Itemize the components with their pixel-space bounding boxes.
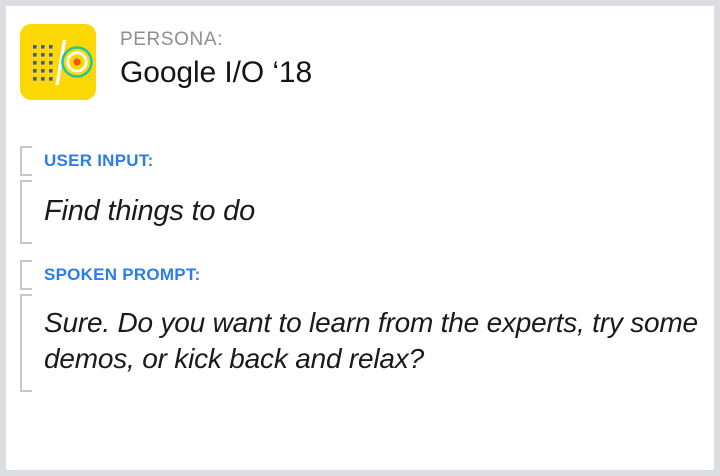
spoken-prompt-label-body: SPOKEN PROMPT: [20, 260, 201, 285]
user-input-value-block: Find things to do [20, 180, 255, 231]
spoken-prompt-value-body: Sure. Do you want to learn from the expe… [20, 294, 704, 378]
spoken-prompt-value: Sure. Do you want to learn from the expe… [44, 305, 704, 378]
user-input-label-body: USER INPUT: [20, 146, 153, 171]
google-io-logo [20, 24, 96, 100]
bracket-decoration [20, 146, 32, 176]
bracket-decoration [20, 180, 32, 244]
user-input-label-block: USER INPUT: [20, 146, 153, 171]
persona-value: Google I/O ‘18 [120, 54, 312, 92]
persona-card: PERSONA: Google I/O ‘18 USER INPUT: Find… [6, 6, 714, 470]
spoken-prompt-label: SPOKEN PROMPT: [44, 265, 201, 285]
bracket-decoration [20, 294, 32, 392]
user-input-value-body: Find things to do [20, 180, 255, 231]
persona-text: PERSONA: Google I/O ‘18 [120, 24, 312, 92]
user-input-value: Find things to do [44, 193, 255, 231]
spoken-prompt-label-block: SPOKEN PROMPT: [20, 260, 201, 285]
persona-label: PERSONA: [120, 28, 312, 52]
bracket-decoration [20, 260, 32, 290]
persona-header: PERSONA: Google I/O ‘18 [20, 24, 312, 100]
spoken-prompt-value-block: Sure. Do you want to learn from the expe… [20, 294, 704, 378]
user-input-label: USER INPUT: [44, 151, 153, 171]
